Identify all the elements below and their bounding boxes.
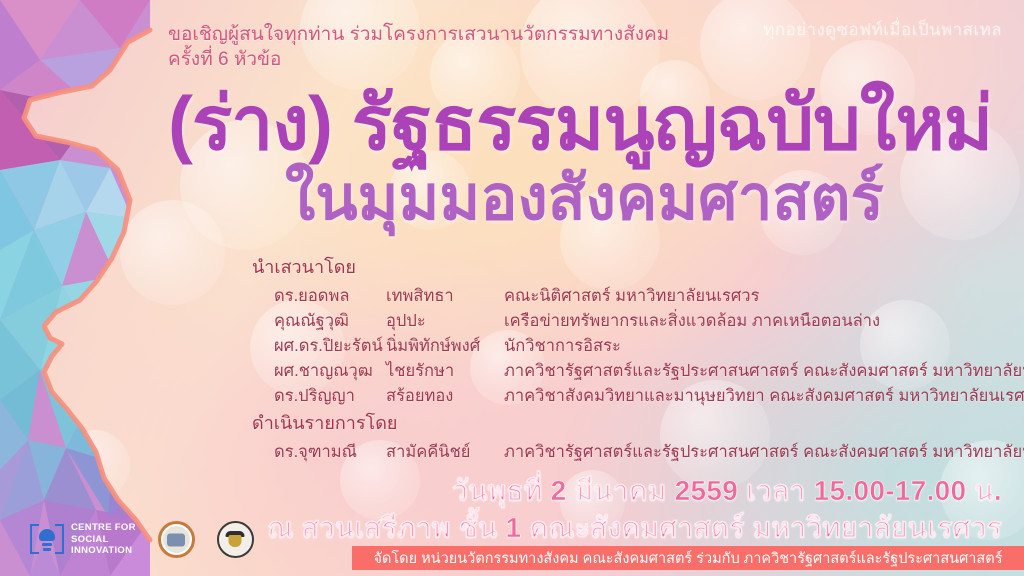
speakers-section: นำเสวนาโดย ดร.ยอดพล เทพสิทธา คณะนิติศาสต… [252,252,992,409]
poster-title-sub: ในมุมมองสังคมศาสตร์ [285,168,1024,230]
moderator-row: ดร.จุฑามณี สามัคคีนิชย์ ภาควิชารัฐศาสตร์… [252,440,992,465]
speaker-row: ดร.ปริญญา สร้อยทอง ภาควิชาสังคมวิทยาและม… [252,384,992,409]
header-line-2: ครั้งที่ 6 หัวข้อ [168,47,669,72]
moderator-section: ดำเนินรายการโดย ดร.จุฑามณี สามัคคีนิชย์ … [252,408,992,465]
speaker-affiliation: นักวิชาการอิสระ [504,334,992,359]
logo-strip: CENTRE FOR SOCIAL INNOVATION [30,521,254,558]
speaker-name: ผศ.ดร.ปิยะรัตน์ [274,334,386,359]
poster-canvas: ทุกอย่างดูซอฟท์เมื่อเป็นพาสเทล ขอเชิญผู้… [0,0,1024,576]
csi-wordmark: CENTRE FOR SOCIAL INNOVATION [71,522,136,557]
speaker-surname: อุปปะ [386,309,504,334]
organizer-bar: จัดโดย หน่วยนวัตกรรมทางสังคม คณะสังคมศาส… [352,546,1024,570]
university-seal-icon [158,521,195,558]
speaker-affiliation: ภาควิชาสังคมวิทยาและมานุษยวิทยา คณะสังคม… [504,384,1024,409]
event-details: วันพุธที่ 2 มีนาคม 2559 เวลา 15.00-17.00… [267,472,1002,546]
speaker-surname: นิ่มพิทักษ์พงศ์ [386,334,504,359]
watermark-text: ทุกอย่างดูซอฟท์เมื่อเป็นพาสเทล [763,16,1002,43]
speaker-surname: เทพสิทธา [386,284,504,309]
header-line-1: ขอเชิญผู้สนใจทุกท่าน ร่วมโครงการเสวนานวั… [168,22,669,47]
speaker-surname: สร้อยทอง [386,384,504,409]
logo-centre-for-social-innovation: CENTRE FOR SOCIAL INNOVATION [30,522,136,557]
speakers-label: นำเสวนาโดย [252,252,992,281]
speaker-affiliation: เครือข่ายทรัพยากรและสิ่งแวดล้อม ภาคเหนือ… [504,309,992,334]
moderator-label: ดำเนินรายการโดย [252,408,992,437]
header-invitation: ขอเชิญผู้สนใจทุกท่าน ร่วมโครงการเสวนานวั… [168,22,669,72]
faculty-seal-icon [217,521,254,558]
event-venue: ณ สวนเสรีภาพ ชั้น 1 คณะสังคมศาสตร์ มหาวิ… [267,509,1002,546]
speaker-name: ผศ.ชาญณวุฒ [274,359,386,384]
speaker-affiliation: ภาควิชารัฐศาสตร์และรัฐประศาสนศาสตร์ คณะส… [504,359,1024,384]
speaker-name: คุณณัฐวุฒิ [274,309,386,334]
speaker-name: ดร.ยอดพล [274,284,386,309]
moderator-surname: สามัคคีนิชย์ [386,440,504,465]
speaker-affiliation: คณะนิติศาสตร์ มหาวิทยาลัยนเรศวร [504,284,992,309]
csi-line-3: INNOVATION [71,545,136,557]
csi-line-2: SOCIAL [71,534,136,546]
speaker-row: คุณณัฐวุฒิ อุปปะ เครือข่ายทรัพยากรและสิ่… [252,309,992,334]
speaker-surname: ไชยรักษา [386,359,504,384]
speaker-name: ดร.ปริญญา [274,384,386,409]
speaker-row: ดร.ยอดพล เทพสิทธา คณะนิติศาสตร์ มหาวิทยา… [252,284,992,309]
moderator-name: ดร.จุฑามณี [274,440,386,465]
poster-title-main: (ร่าง) รัฐธรรมนูญฉบับใหม่ [168,86,1008,161]
lightbulb-bracket-icon [30,522,64,556]
moderator-affiliation: ภาควิชารัฐศาสตร์และรัฐประศาสนศาสตร์ คณะส… [504,440,1024,465]
speaker-row: ผศ.ชาญณวุฒ ไชยรักษา ภาควิชารัฐศาสตร์และร… [252,359,992,384]
speaker-row: ผศ.ดร.ปิยะรัตน์ นิ่มพิทักษ์พงศ์ นักวิชาก… [252,334,992,359]
event-datetime: วันพุธที่ 2 มีนาคม 2559 เวลา 15.00-17.00… [267,472,1002,509]
organizer-text: จัดโดย หน่วยนวัตกรรมทางสังคม คณะสังคมศาส… [373,547,1002,570]
csi-line-1: CENTRE FOR [71,522,136,534]
